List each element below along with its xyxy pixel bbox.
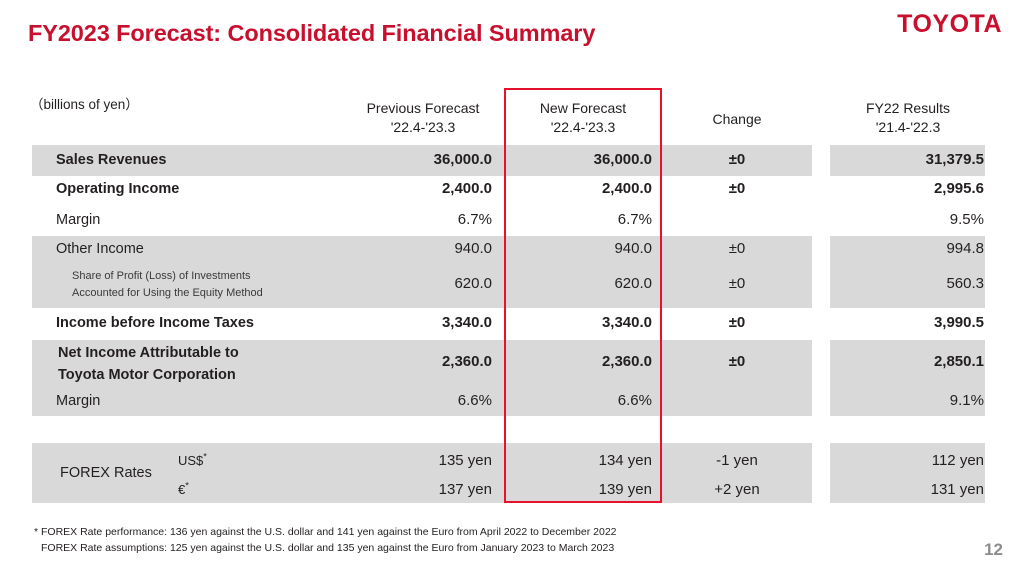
page-title: FY2023 Forecast: Consolidated Financial … bbox=[28, 20, 595, 47]
forex-cell-change: +2 yen bbox=[676, 481, 798, 498]
forex-rates-label: FOREX Rates bbox=[60, 465, 152, 482]
table-cell-previous-forecast: 6.6% bbox=[330, 392, 492, 409]
column-header-previous-forecast: Previous Forecast '22.4-'23.3 bbox=[348, 99, 498, 137]
table-cell-new-forecast: 6.7% bbox=[490, 211, 652, 228]
column-header-new-forecast: New Forecast '22.4-'23.3 bbox=[508, 99, 658, 137]
slide-canvas: FY2023 Forecast: Consolidated Financial … bbox=[0, 0, 1024, 569]
table-cell-change: ±0 bbox=[676, 180, 798, 197]
column-header-line1: FY22 Results bbox=[866, 100, 950, 116]
table-cell-change: ±0 bbox=[676, 275, 798, 292]
units-note: （billions of yen） bbox=[30, 93, 139, 113]
forex-cell-change: -1 yen bbox=[676, 452, 798, 469]
column-header-line1: New Forecast bbox=[540, 100, 626, 116]
table-cell-new-forecast: 6.6% bbox=[490, 392, 652, 409]
forex-cell-fy22-results: 112 yen bbox=[832, 452, 984, 469]
forex-cell-fy22-results: 131 yen bbox=[832, 481, 984, 498]
table-row-label: Operating Income bbox=[56, 181, 179, 198]
forex-cell-new-forecast: 134 yen bbox=[490, 452, 652, 469]
footnote-line-1: * FOREX Rate performance: 136 yen agains… bbox=[34, 525, 617, 541]
column-header-line2: '22.4-'23.3 bbox=[508, 118, 658, 137]
table-cell-fy22-results: 9.1% bbox=[832, 392, 984, 409]
table-cell-new-forecast: 940.0 bbox=[490, 240, 652, 257]
column-header-line2: '22.4-'23.3 bbox=[348, 118, 498, 137]
table-row-label-line2: Toyota Motor Corporation bbox=[58, 367, 236, 384]
page-number: 12 bbox=[984, 540, 1003, 560]
table-cell-change: ±0 bbox=[676, 353, 798, 370]
column-header-line1: Change bbox=[712, 111, 761, 127]
forex-currency-usd: US$* bbox=[178, 452, 207, 469]
table-cell-fy22-results: 2,995.6 bbox=[832, 180, 984, 197]
column-header-line2: '21.4-'22.3 bbox=[832, 118, 984, 137]
table-cell-new-forecast: 3,340.0 bbox=[490, 314, 652, 331]
table-cell-fy22-results: 2,850.1 bbox=[832, 353, 984, 370]
table-row-label: Margin bbox=[56, 212, 100, 229]
table-cell-previous-forecast: 2,360.0 bbox=[330, 353, 492, 370]
forex-footnote-marker: * bbox=[203, 452, 207, 462]
table-row-label-line1: Net Income Attributable to bbox=[58, 345, 239, 362]
forex-cell-previous-forecast: 135 yen bbox=[330, 452, 492, 469]
table-cell-fy22-results: 31,379.5 bbox=[832, 151, 984, 168]
table-cell-new-forecast: 36,000.0 bbox=[490, 151, 652, 168]
table-cell-new-forecast: 2,360.0 bbox=[490, 353, 652, 370]
table-row-label-line1: Share of Profit (Loss) of Investments bbox=[72, 269, 251, 284]
table-cell-new-forecast: 2,400.0 bbox=[490, 180, 652, 197]
table-cell-fy22-results: 994.8 bbox=[832, 240, 984, 257]
table-cell-fy22-results: 9.5% bbox=[832, 211, 984, 228]
footnote-line-2: FOREX Rate assumptions: 125 yen against … bbox=[34, 541, 617, 557]
table-cell-previous-forecast: 2,400.0 bbox=[330, 180, 492, 197]
table-row-label: Margin bbox=[56, 393, 100, 410]
table-row-label-line2: Accounted for Using the Equity Method bbox=[72, 286, 263, 301]
table-cell-new-forecast: 620.0 bbox=[490, 275, 652, 292]
forex-footnote-marker: * bbox=[185, 481, 189, 491]
table-row-label: Other Income bbox=[56, 241, 144, 258]
forex-currency-symbol: US$ bbox=[178, 453, 203, 468]
table-cell-previous-forecast: 940.0 bbox=[330, 240, 492, 257]
table-cell-previous-forecast: 620.0 bbox=[330, 275, 492, 292]
table-cell-change: ±0 bbox=[676, 240, 798, 257]
table-row-label: Income before Income Taxes bbox=[56, 315, 254, 332]
toyota-logo: TOYOTA bbox=[897, 10, 1002, 39]
column-header-fy22-results: FY22 Results '21.4-'22.3 bbox=[832, 99, 984, 137]
forex-cell-previous-forecast: 137 yen bbox=[330, 481, 492, 498]
column-header-change: Change bbox=[672, 110, 802, 129]
table-cell-fy22-results: 560.3 bbox=[832, 275, 984, 292]
forex-currency-eur: €* bbox=[178, 481, 189, 498]
forex-cell-new-forecast: 139 yen bbox=[490, 481, 652, 498]
table-row-label: Sales Revenues bbox=[56, 152, 166, 169]
column-header-line1: Previous Forecast bbox=[367, 100, 480, 116]
footnotes: * FOREX Rate performance: 136 yen agains… bbox=[34, 525, 617, 556]
table-cell-previous-forecast: 3,340.0 bbox=[330, 314, 492, 331]
table-cell-change: ±0 bbox=[676, 314, 798, 331]
table-cell-change: ±0 bbox=[676, 151, 798, 168]
table-cell-previous-forecast: 36,000.0 bbox=[330, 151, 492, 168]
table-cell-fy22-results: 3,990.5 bbox=[832, 314, 984, 331]
table-cell-previous-forecast: 6.7% bbox=[330, 211, 492, 228]
